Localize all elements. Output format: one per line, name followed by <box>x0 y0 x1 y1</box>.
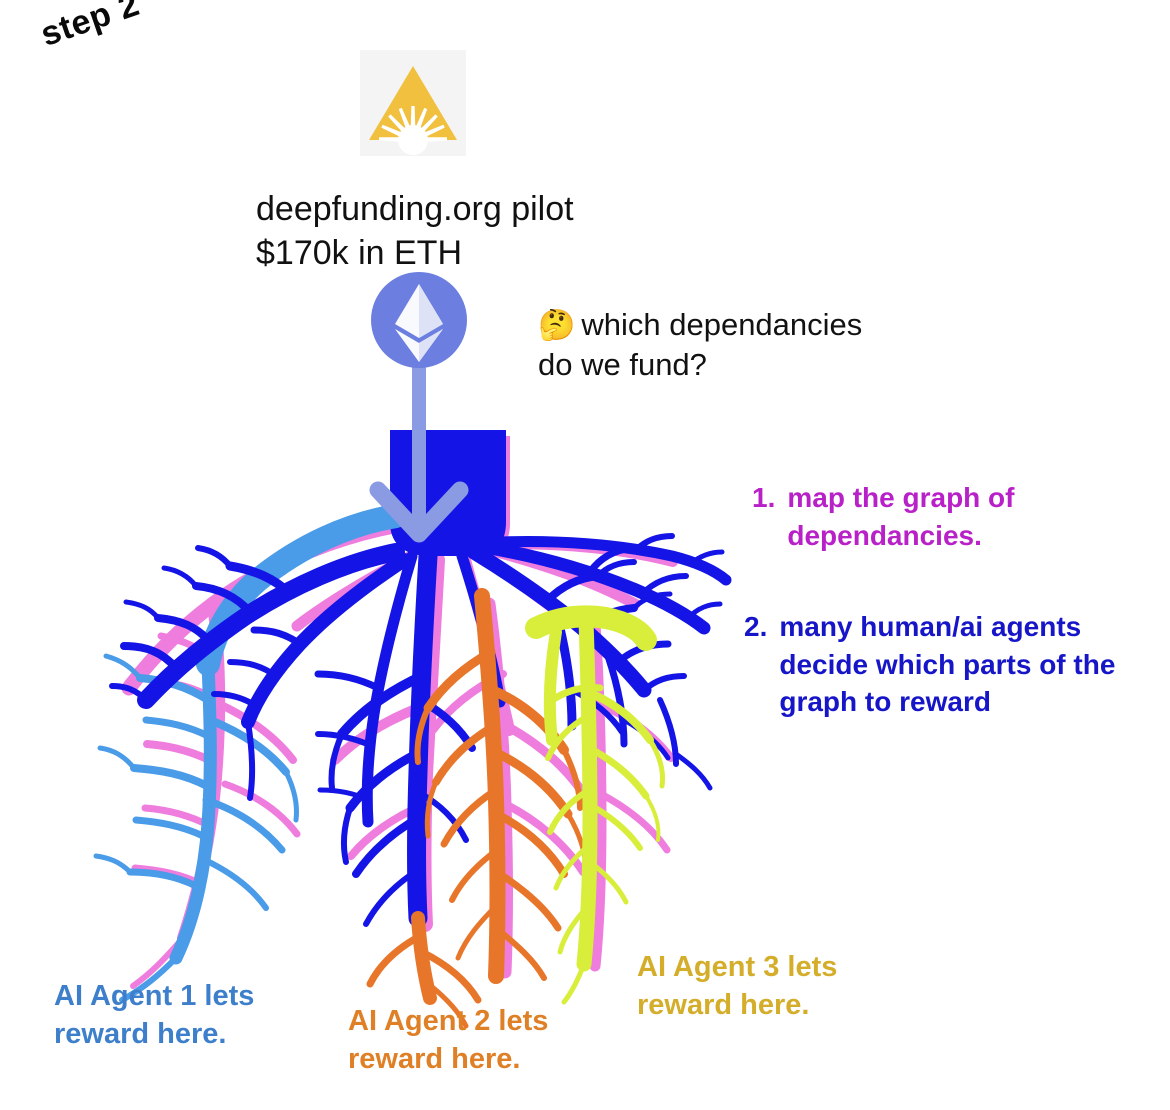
thinking-face-icon: 🤔 <box>538 309 575 342</box>
list-item-2-number: 2. <box>744 608 767 721</box>
diagram-canvas: step 2 <box>0 0 1170 1110</box>
pilot-headline: deepfunding.org pilot $170k in ETH <box>256 188 574 275</box>
list-item-1-number: 1. <box>752 479 775 554</box>
list-item-2: 2. many human/ai agents decide which par… <box>744 608 1164 721</box>
agent-3-caption: AI Agent 3 lets reward here. <box>637 949 837 1024</box>
main-root-group <box>112 536 726 924</box>
step-label: step 2 <box>36 0 144 55</box>
agent-1-caption: AI Agent 1 lets reward here. <box>54 978 254 1053</box>
list-item-1-text: map the graph of dependancies. <box>787 479 1152 554</box>
deepfunding-triangle-sunburst-logo <box>360 50 466 156</box>
list-item-2-text: many human/ai agents decide which parts … <box>779 608 1164 721</box>
agent-3-branch-group <box>536 616 663 1002</box>
question-text: which dependancies do we fund? <box>538 307 862 382</box>
agent-1-branch-group <box>96 516 396 1000</box>
agent-2-caption: AI Agent 2 lets reward here. <box>348 1003 548 1078</box>
list-item-1: 1. map the graph of dependancies. <box>752 479 1152 554</box>
agent-2-branch-group <box>370 596 586 1026</box>
deepfunding-logo-tile <box>360 50 466 156</box>
question-block: 🤔which dependancies do we fund? <box>538 305 898 386</box>
